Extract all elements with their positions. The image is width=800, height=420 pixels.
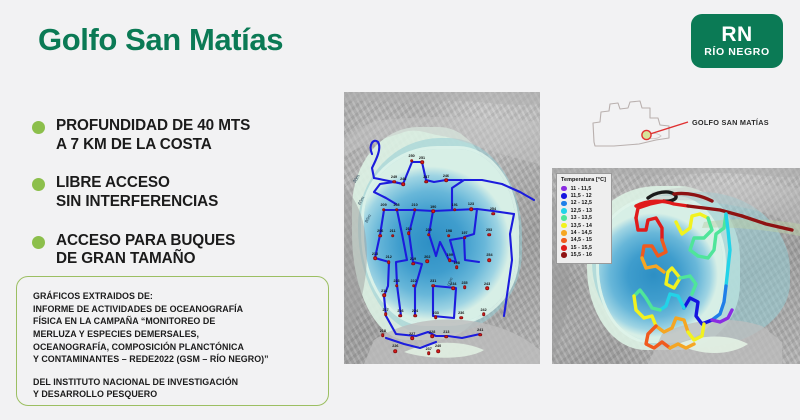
legend-entry-label: 11 - 11,5 (571, 186, 592, 192)
station-label: 209 (381, 203, 387, 207)
legend-entry: 13,5 - 14 (561, 222, 606, 229)
legend-color-swatch (561, 186, 567, 192)
station-marker (395, 208, 399, 212)
station-marker (413, 208, 417, 212)
station-label: 123 (468, 202, 474, 206)
station-marker (487, 233, 491, 237)
station-marker (412, 284, 416, 288)
station-label: 214 (381, 289, 387, 293)
legend-color-swatch (561, 223, 567, 229)
station-label: 213 (443, 330, 449, 334)
station-marker (431, 284, 435, 288)
station-label: 198 (446, 229, 452, 233)
station-marker (463, 285, 467, 289)
legend-entry: 11,5 - 12 (561, 192, 606, 199)
station-label: 233 (433, 311, 439, 315)
station-marker (488, 258, 492, 262)
station-marker (410, 336, 414, 340)
station-marker (427, 351, 431, 355)
station-label: 199 (447, 253, 453, 257)
station-marker (381, 334, 385, 338)
station-marker (394, 349, 398, 353)
station-label: 246 (443, 174, 449, 178)
source-paragraph-primary: GRÁFICOS EXTRAIDOS DE: INFORME DE ACTIVI… (33, 290, 312, 366)
station-label: 198 (454, 261, 460, 265)
legend-color-swatch (561, 201, 567, 207)
station-marker (482, 313, 486, 317)
list-item: LIBRE ACCESO SIN INTERFERENCIAS (32, 174, 332, 211)
station-marker (378, 234, 382, 238)
bullet-dot-icon (32, 178, 45, 191)
station-marker (463, 236, 467, 240)
station-marker (401, 182, 405, 186)
station-map-figure: 30m 60m 80m 100m 25025 (344, 92, 540, 364)
station-marker (426, 259, 430, 263)
station-markers-layer: 2502512492482472462092082101901911232542… (344, 92, 540, 364)
station-marker (447, 234, 451, 238)
station-label: 208 (393, 203, 399, 207)
legend-color-swatch (561, 238, 567, 244)
station-label: 212 (386, 255, 392, 259)
station-label: 202 (424, 255, 430, 259)
station-label: 213 (372, 252, 378, 256)
station-label: 217 (382, 308, 388, 312)
station-label: 214 (406, 227, 412, 231)
station-marker (382, 294, 386, 298)
station-marker (445, 335, 449, 339)
legend-color-swatch (561, 193, 567, 199)
legend-color-swatch (561, 245, 567, 251)
station-label: 218 (380, 329, 386, 333)
station-label: 253 (486, 228, 492, 232)
station-label: 216 (397, 309, 403, 313)
bullet-dot-icon (32, 121, 45, 134)
station-marker (452, 287, 456, 291)
station-label: 226 (392, 344, 398, 348)
station-label: 228 (429, 330, 435, 334)
station-marker (427, 233, 431, 237)
station-label: 251 (419, 156, 425, 160)
station-marker (469, 207, 473, 211)
bullet-label: ACCESO PARA BUQUES DE GRAN TAMAÑO (56, 232, 235, 269)
station-label: 242 (480, 308, 486, 312)
logo-subtitle: RÍO NEGRO (704, 47, 770, 58)
legend-color-swatch (561, 215, 567, 221)
station-marker (425, 180, 429, 184)
legend-entry-label: 13 - 13,5 (571, 215, 592, 221)
station-marker (459, 316, 463, 320)
station-label: 224 (412, 309, 418, 313)
station-label: 247 (423, 175, 429, 179)
station-label: 254 (490, 207, 496, 211)
station-marker (413, 314, 417, 318)
station-label: 235 (461, 281, 467, 285)
inset-callout-label: GOLFO SAN MATÍAS (692, 118, 769, 127)
station-marker (382, 208, 386, 212)
station-marker (448, 258, 452, 262)
station-label: 222 (411, 279, 417, 283)
slide-root: Golfo San Matías RN RÍO NEGRO PROFUNDIDA… (0, 0, 800, 420)
station-label: 254 (486, 253, 492, 257)
list-item: ACCESO PARA BUQUES DE GRAN TAMAÑO (32, 232, 332, 269)
page-title: Golfo San Matías (38, 22, 283, 58)
station-label: 211 (390, 229, 396, 233)
station-marker (420, 160, 424, 164)
legend-color-swatch (561, 208, 567, 214)
station-marker (436, 349, 440, 353)
station-marker (453, 208, 457, 212)
station-marker (491, 212, 495, 216)
station-label: 210 (411, 203, 417, 207)
legend-entry-label: 15,5 - 16 (571, 252, 592, 258)
legend-entry-label: 13,5 - 14 (571, 223, 592, 229)
legend-entry-label: 14,5 - 15 (571, 237, 592, 243)
station-marker (455, 266, 459, 270)
station-marker (399, 314, 403, 318)
station-label: 249 (391, 175, 397, 179)
station-marker (410, 159, 414, 163)
station-label: 248 (400, 177, 406, 181)
station-marker (411, 262, 415, 266)
station-label: 236 (458, 311, 464, 315)
temperature-map-figure: 30m 60m (552, 168, 800, 364)
station-marker (392, 180, 396, 184)
legend-entry: 12 - 12,5 (561, 200, 606, 207)
station-label: 234 (450, 282, 456, 286)
inset-province-map: GOLFO SAN MATÍAS (584, 96, 800, 158)
source-paragraph-secondary: DEL INSTITUTO NACIONAL DE INVESTIGACIÓN … (33, 376, 312, 401)
bullet-label: PROFUNDIDAD DE 40 MTS A 7 KM DE LA COSTA (56, 117, 250, 154)
station-marker (395, 284, 399, 288)
legend-entry: 15 - 15,5 (561, 244, 606, 251)
station-label: 240 (435, 344, 441, 348)
station-label: 250 (409, 154, 415, 158)
legend-entry-label: 12 - 12,5 (571, 200, 592, 206)
legend-entry-label: 12,5 - 13 (571, 208, 592, 214)
legend-entry: 14 - 14,5 (561, 229, 606, 236)
legend-color-swatch (561, 252, 567, 258)
legend-entry-label: 11,5 - 12 (571, 193, 592, 199)
station-marker (485, 287, 489, 291)
bullet-label: LIBRE ACCESO SIN INTERFERENCIAS (56, 174, 218, 211)
station-marker (434, 315, 438, 319)
legend-entry: 12,5 - 13 (561, 207, 606, 214)
list-item: PROFUNDIDAD DE 40 MTS A 7 KM DE LA COSTA (32, 117, 332, 154)
legend-entries: 11 - 11,511,5 - 1212 - 12,512,5 - 1313 -… (561, 185, 606, 259)
logo-initials: RN (721, 24, 752, 45)
station-marker (387, 260, 391, 264)
station-marker (431, 209, 435, 213)
bullet-list: PROFUNDIDAD DE 40 MTS A 7 KM DE LA COSTA… (32, 117, 332, 289)
station-marker (478, 333, 482, 337)
station-marker (444, 179, 448, 183)
legend-color-swatch (561, 230, 567, 236)
legend-entry-label: 15 - 15,5 (571, 245, 592, 251)
station-marker (391, 234, 395, 238)
station-marker (384, 313, 388, 317)
station-label: 237 (426, 347, 432, 351)
legend-entry: 13 - 13,5 (561, 215, 606, 222)
station-label: 197 (461, 231, 467, 235)
station-label: 227 (409, 332, 415, 336)
station-label: 243 (484, 282, 490, 286)
station-marker (407, 232, 411, 236)
gulf-location-marker (642, 130, 651, 139)
station-label: 206 (377, 229, 383, 233)
rio-negro-logo: RN RÍO NEGRO (691, 14, 783, 68)
station-label: 231 (430, 279, 436, 283)
station-label: 223 (393, 279, 399, 283)
legend-entry: 15,5 - 16 (561, 252, 606, 259)
station-label: 241 (477, 328, 483, 332)
bullet-dot-icon (32, 236, 45, 249)
temperature-legend: Temperatura [°C] 11 - 11,511,5 - 1212 - … (556, 173, 612, 264)
legend-entry: 11 - 11,5 (561, 185, 606, 192)
legend-entry-label: 14 - 14,5 (571, 230, 592, 236)
station-label: 219 (410, 257, 416, 261)
station-label: 230 (426, 228, 432, 232)
legend-entry: 14,5 - 15 (561, 237, 606, 244)
legend-title: Temperatura [°C] (561, 177, 606, 183)
station-marker (373, 257, 377, 261)
station-marker (430, 334, 434, 338)
station-label: 191 (452, 203, 458, 207)
source-credits-box: GRÁFICOS EXTRAIDOS DE: INFORME DE ACTIVI… (16, 276, 329, 406)
province-outline-icon (584, 96, 800, 158)
station-label: 190 (430, 205, 436, 209)
